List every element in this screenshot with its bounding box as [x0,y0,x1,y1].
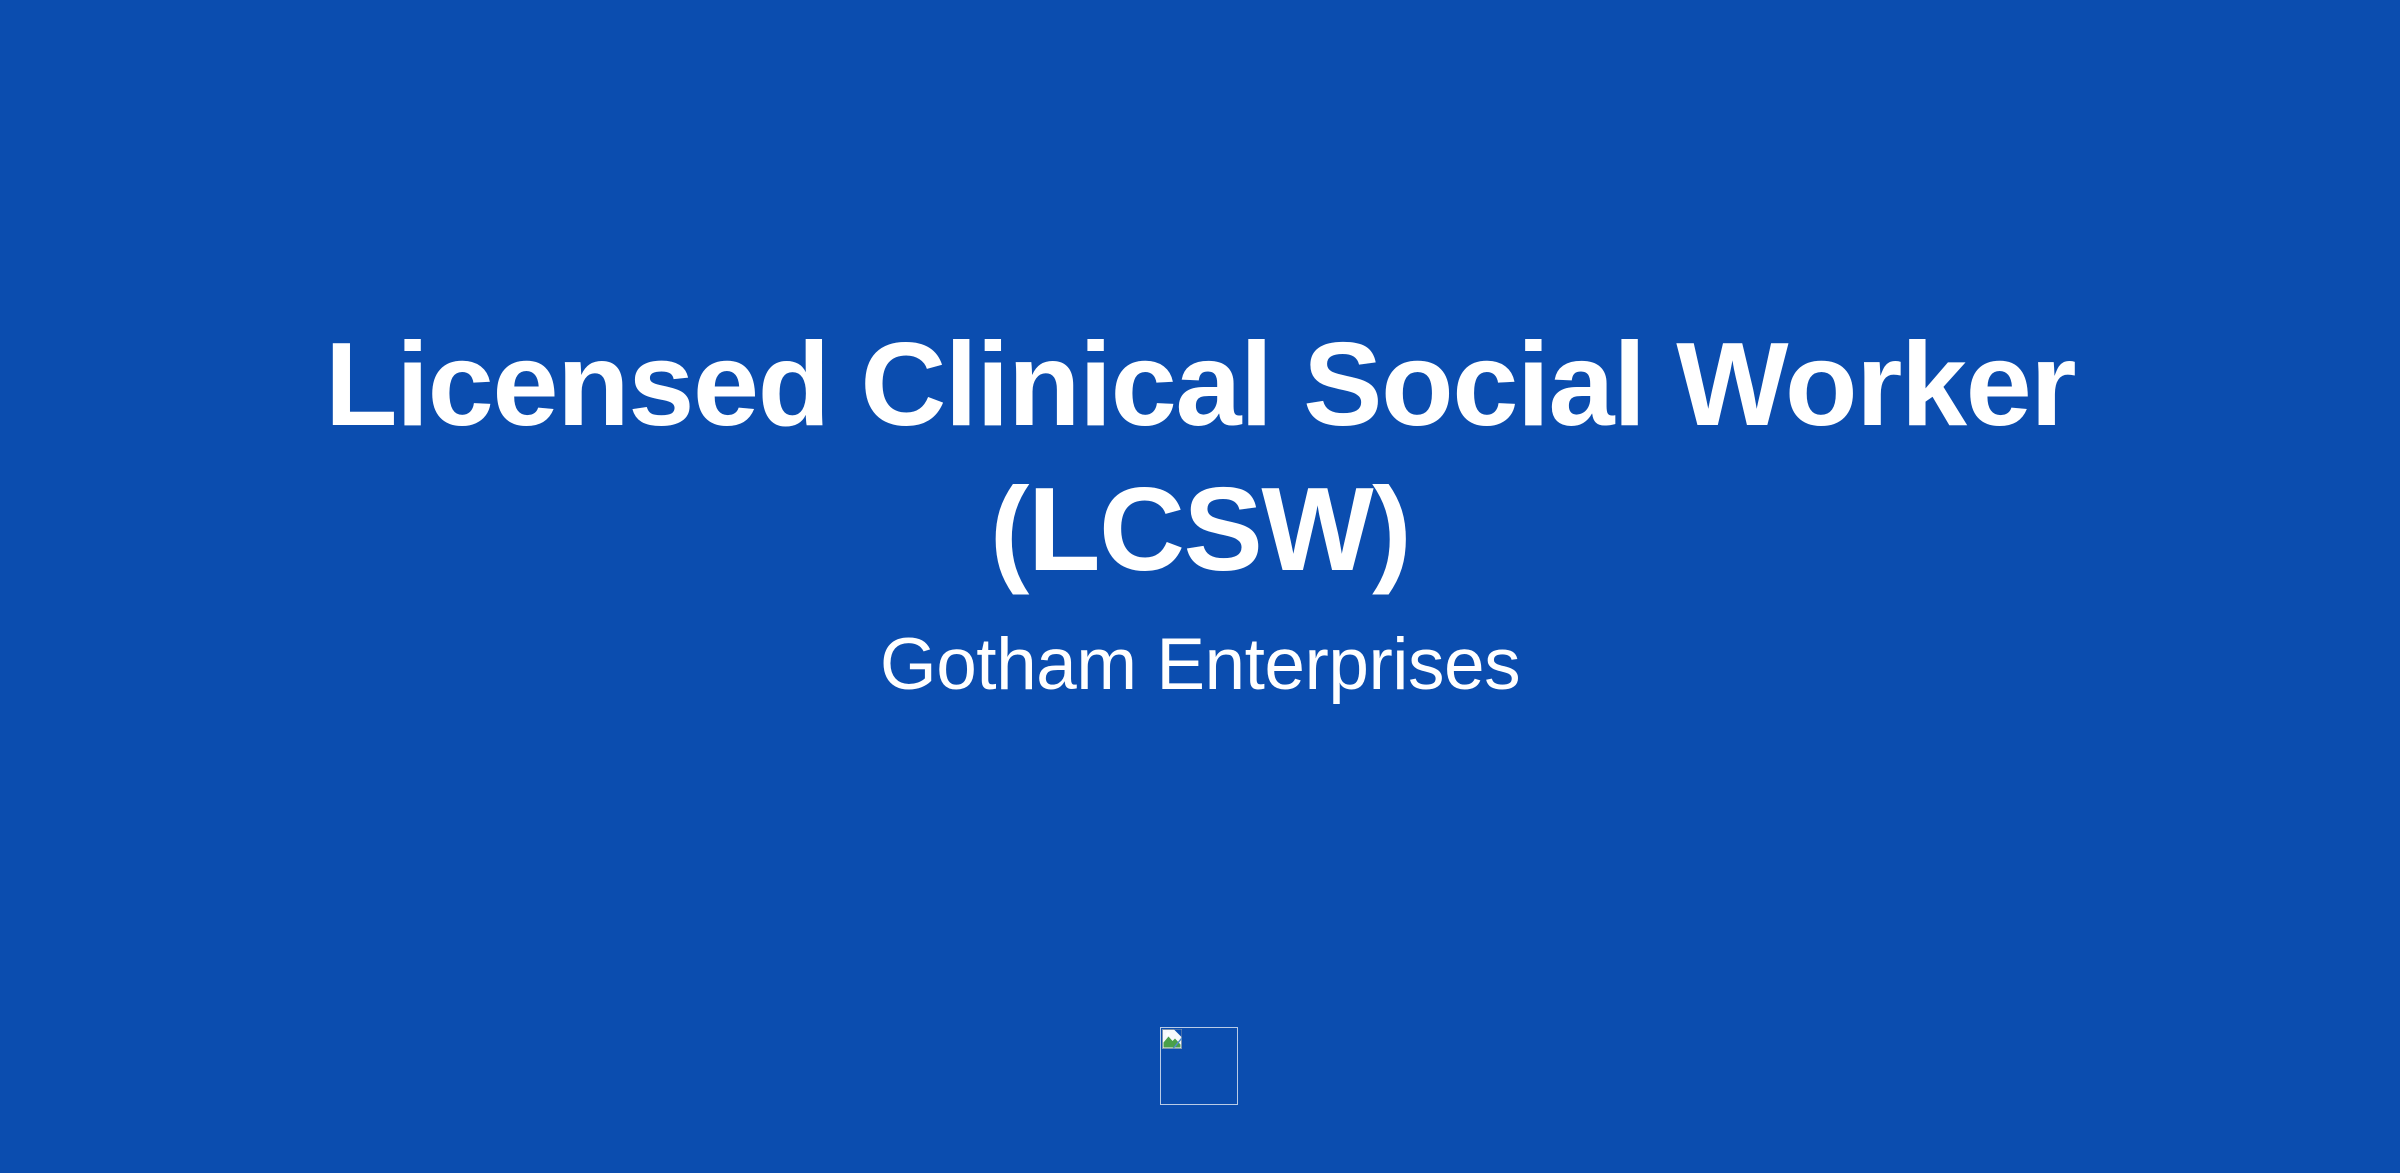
company-logo-slot [1160,1027,1238,1105]
company-name: Gotham Enterprises [880,621,1520,709]
broken-image-placeholder [1160,1027,1238,1105]
broken-image-icon [1162,1029,1182,1049]
slide-canvas: Licensed Clinical Social Worker (LCSW) G… [0,0,2400,1173]
hero-section: Licensed Clinical Social Worker (LCSW) G… [0,0,2400,709]
page-title: Licensed Clinical Social Worker (LCSW) [320,312,2080,602]
